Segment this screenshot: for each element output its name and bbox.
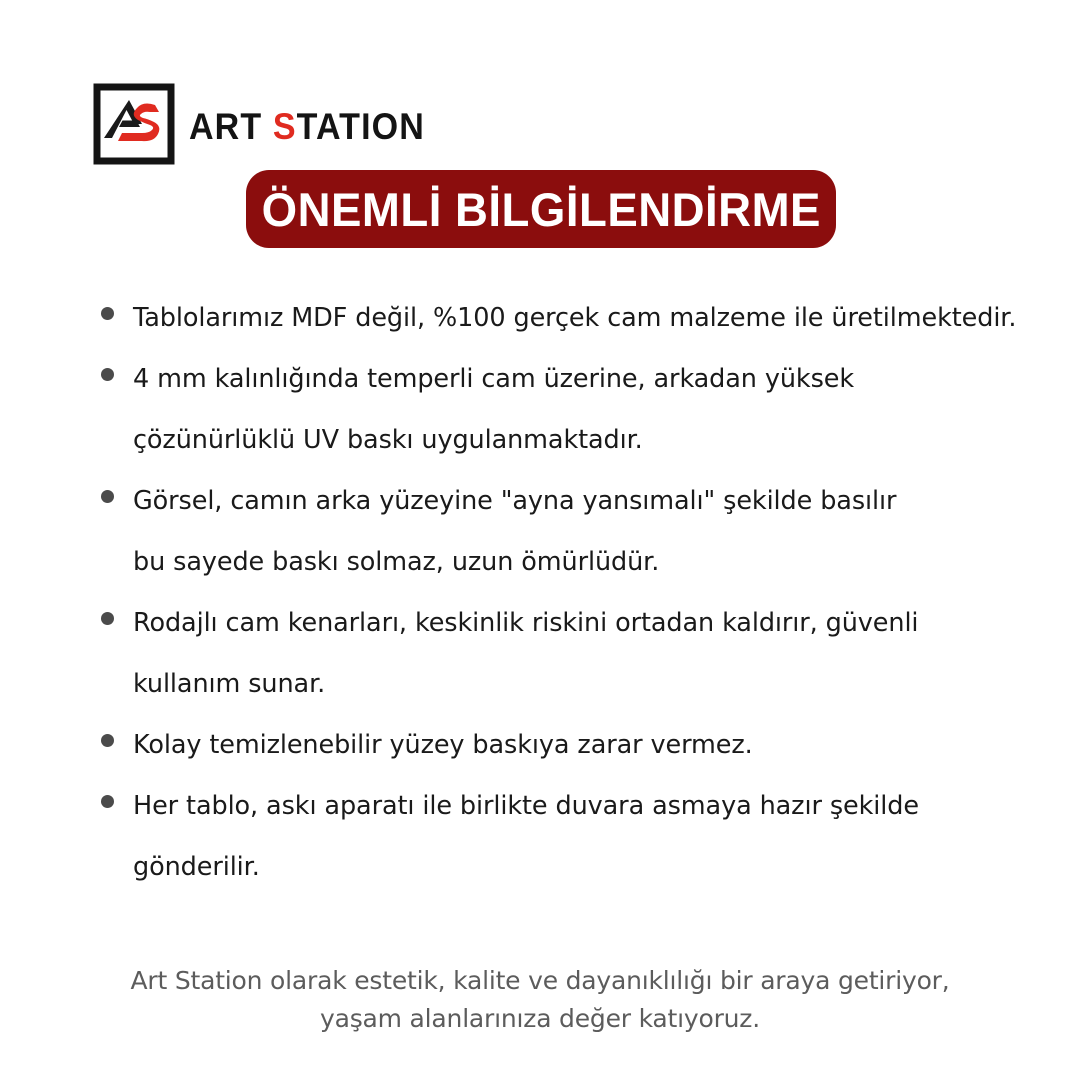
list-item: Her tablo, askı aparatı ile birlikte duv…	[100, 776, 1040, 898]
important-notice-banner: ÖNEMLİ BİLGİLENDİRME	[246, 170, 836, 248]
list-item: Kolay temizlenebilir yüzey baskıya zarar…	[100, 715, 1040, 776]
bullet-dot-icon	[101, 368, 114, 381]
bullet-dot-icon	[101, 612, 114, 625]
wordmark-part-2: TATION	[297, 106, 425, 147]
list-item: Tablolarımız MDF değil, %100 gerçek cam …	[100, 288, 1040, 349]
list-item-text: Tablolarımız MDF değil, %100 gerçek cam …	[133, 303, 1016, 333]
art-station-logo-icon	[93, 83, 175, 165]
list-item-text: Her tablo, askı aparatı ile birlikte duv…	[133, 791, 919, 882]
info-card: ART STATION ÖNEMLİ BİLGİLENDİRME Tablola…	[0, 0, 1080, 1080]
list-item: 4 mm kalınlığında temperli cam üzerine, …	[100, 349, 1040, 471]
wordmark-part-1: ART	[189, 106, 273, 147]
footer-tagline: Art Station olarak estetik, kalite ve da…	[0, 962, 1080, 1038]
list-item: Rodajlı cam kenarları, keskinlik riskini…	[100, 593, 1040, 715]
list-item-text: 4 mm kalınlığında temperli cam üzerine, …	[133, 364, 854, 455]
list-item: Görsel, camın arka yüzeyine "ayna yansım…	[100, 471, 1040, 593]
bullet-dot-icon	[101, 734, 114, 747]
brand-header: ART STATION	[93, 83, 445, 165]
list-item-text: Görsel, camın arka yüzeyine "ayna yansım…	[133, 486, 896, 577]
bullet-dot-icon	[101, 795, 114, 808]
bullet-dot-icon	[101, 490, 114, 503]
bullet-dot-icon	[101, 307, 114, 320]
list-item-text: Kolay temizlenebilir yüzey baskıya zarar…	[133, 730, 753, 760]
footer-tagline-text: Art Station olarak estetik, kalite ve da…	[0, 962, 1080, 1038]
brand-wordmark: ART STATION	[189, 104, 425, 145]
wordmark-accent-letter: S	[273, 106, 297, 147]
banner-title: ÖNEMLİ BİLGİLENDİRME	[261, 186, 820, 233]
list-item-text: Rodajlı cam kenarları, keskinlik riskini…	[133, 608, 918, 699]
feature-bullet-list: Tablolarımız MDF değil, %100 gerçek cam …	[100, 288, 1040, 898]
